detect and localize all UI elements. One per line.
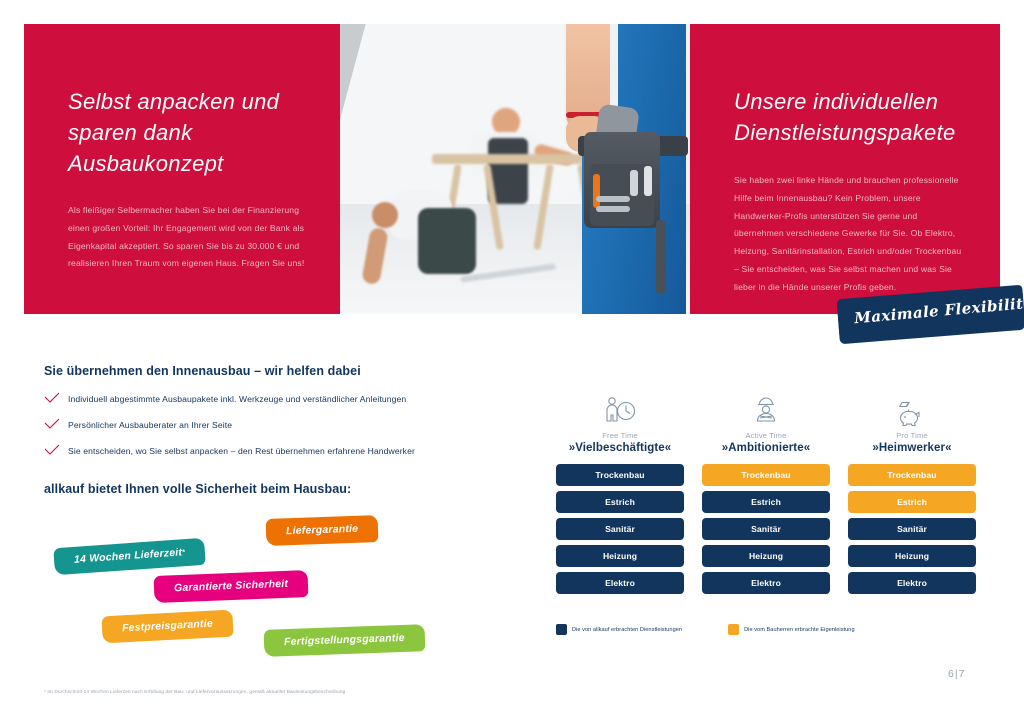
legend-label: Die von allkauf erbrachten Dienstleistun… (572, 627, 682, 633)
worker-helmet-icon (751, 392, 781, 430)
badge-liefergarantie: Liefergarantie (266, 515, 379, 546)
service-tile-estrich[interactable]: Estrich (848, 491, 976, 513)
person-clock-icon (603, 392, 637, 430)
hero-right-title: Unsere individuellen Dienstleistungspake… (734, 86, 984, 148)
service-tile-sanitaer[interactable]: Sanitär (556, 518, 684, 540)
check-icon (44, 418, 68, 430)
legend-label: Die vom Bauherren erbrachte Eigenleistun… (744, 627, 855, 633)
service-packages: Free Time »Vielbeschäftigte« Trockenbau … (556, 392, 976, 599)
badge-festpreisgarantie: Festpreisgarantie (101, 610, 233, 644)
service-tile-trockenbau[interactable]: Trockenbau (702, 464, 830, 486)
benefits-checklist: Individuell abgestimmte Ausbaupakete ink… (44, 392, 504, 471)
list-item-label: Persönlicher Ausbauberater an Ihrer Seit… (68, 418, 232, 431)
list-item: Persönlicher Ausbauberater an Ihrer Seit… (44, 418, 504, 431)
package-column-ambitionierte: Active Time »Ambitionierte« Trockenbau E… (702, 392, 830, 599)
check-icon (44, 444, 68, 456)
hero-left-body: Als fleißiger Selbermacher haben Sie bei… (68, 202, 320, 273)
package-column-heimwerker: Pro Time »Heimwerker« Trockenbau Estrich… (848, 392, 976, 599)
service-tile-estrich[interactable]: Estrich (556, 491, 684, 513)
guarantee-badges: Liefergarantie 14 Wochen Lieferzeit* Gar… (44, 505, 464, 655)
badge-lieferzeit-label: 14 Wochen Lieferzeit (74, 546, 183, 566)
page-number: 6|7 (948, 668, 965, 680)
hero-band: Selbst anpacken und sparen dank Ausbauko… (24, 24, 1000, 314)
service-tile-elektro[interactable]: Elektro (848, 572, 976, 594)
package-service-tiles: Trockenbau Estrich Sanitär Heizung Elekt… (556, 464, 684, 599)
piggy-bank-icon (896, 392, 928, 430)
hero-left-title: Selbst anpacken und sparen dank Ausbauko… (68, 86, 318, 180)
hero-right-body: Sie haben zwei linke Hände und brauchen … (734, 172, 966, 296)
hero-left-panel: Selbst anpacken und sparen dank Ausbauko… (24, 24, 340, 314)
badge-fertigstellungsgarantie: Fertigstellungsgarantie (264, 624, 426, 657)
package-service-tiles: Trockenbau Estrich Sanitär Heizung Elekt… (848, 464, 976, 599)
legend-swatch-navy (556, 624, 567, 635)
list-item: Individuell abgestimmte Ausbaupakete ink… (44, 392, 504, 405)
package-subtitle: Free Time (602, 431, 638, 440)
package-subtitle: Pro Time (896, 431, 928, 440)
package-name: »Ambitionierte« (722, 442, 810, 454)
badge-garantierte-sicherheit: Garantierte Sicherheit (154, 570, 309, 603)
service-tile-heizung[interactable]: Heizung (848, 545, 976, 567)
package-name: »Heimwerker« (872, 442, 951, 454)
legend-item-allkauf: Die von allkauf erbrachten Dienstleistun… (556, 624, 682, 635)
list-item-label: Individuell abgestimmte Ausbaupakete ink… (68, 392, 406, 405)
section-heading-sicherheit: allkauf bietet Ihnen volle Sicherheit be… (44, 482, 351, 496)
service-tile-sanitaer[interactable]: Sanitär (848, 518, 976, 540)
hero-right-panel: Unsere individuellen Dienstleistungspake… (690, 24, 1000, 314)
list-item-label: Sie entscheiden, wo Sie selbst anpacken … (68, 444, 415, 457)
service-tile-trockenbau[interactable]: Trockenbau (556, 464, 684, 486)
packages-legend: Die von allkauf erbrachten Dienstleistun… (556, 624, 855, 635)
legend-item-bauherr: Die vom Bauherren erbrachte Eigenleistun… (728, 624, 855, 635)
service-tile-trockenbau[interactable]: Trockenbau (848, 464, 976, 486)
package-column-vielbeschaeftigte: Free Time »Vielbeschäftigte« Trockenbau … (556, 392, 684, 599)
package-name: »Vielbeschäftigte« (569, 442, 672, 454)
service-tile-heizung[interactable]: Heizung (556, 545, 684, 567)
service-tile-elektro[interactable]: Elektro (556, 572, 684, 594)
legend-swatch-gold (728, 624, 739, 635)
brochure-page: Selbst anpacken und sparen dank Ausbauko… (0, 0, 1024, 725)
footnote: * Im Durchschnitt 14 Wochen Lieferzeit n… (44, 690, 345, 695)
photo-foreground-craftsman (531, 24, 690, 314)
package-subtitle: Active Time (746, 431, 787, 440)
service-tile-elektro[interactable]: Elektro (702, 572, 830, 594)
service-tile-estrich[interactable]: Estrich (702, 491, 830, 513)
section-heading-innenausbau: Sie übernehmen den Innenausbau – wir hel… (44, 364, 361, 378)
badge-footnote-marker: * (182, 549, 185, 556)
badge-lieferzeit: 14 Wochen Lieferzeit* (53, 538, 206, 575)
service-tile-heizung[interactable]: Heizung (702, 545, 830, 567)
photo-worker-kneeling (358, 184, 488, 304)
check-icon (44, 392, 68, 404)
list-item: Sie entscheiden, wo Sie selbst anpacken … (44, 444, 504, 457)
service-tile-sanitaer[interactable]: Sanitär (702, 518, 830, 540)
package-service-tiles: Trockenbau Estrich Sanitär Heizung Elekt… (702, 464, 830, 599)
hero-photo (340, 24, 690, 314)
